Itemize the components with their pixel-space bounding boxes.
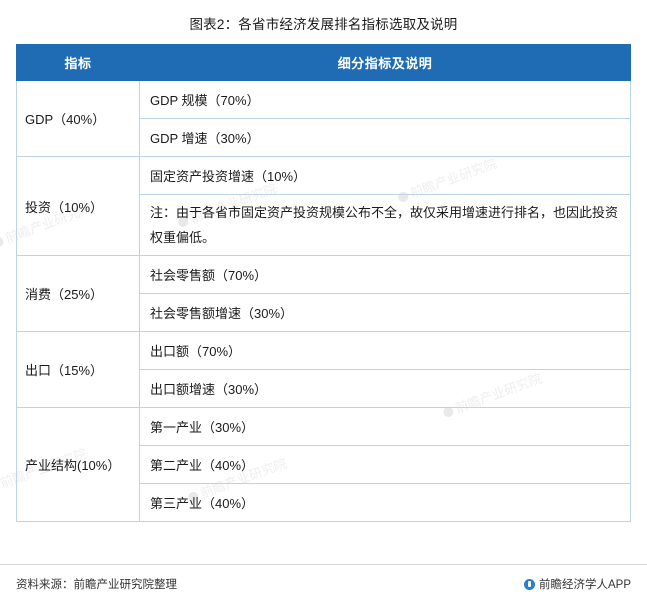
row-category-export: 出口（15%） — [17, 332, 140, 408]
row-category-gdp: GDP（40%） — [17, 81, 140, 157]
footer: 资料来源：前瞻产业研究院整理 前瞻经济学人APP — [0, 564, 647, 594]
watermark-logo-icon — [0, 236, 5, 249]
document-page: 图表2：各省市经济发展排名指标选取及说明 前瞻产业研究院 前瞻产业研究院 前瞻产… — [0, 0, 647, 594]
row-detail: 社会零售额（70%） — [140, 256, 631, 294]
row-category-consumption: 消费（25%） — [17, 256, 140, 332]
row-detail: 固定资产投资增速（10%） — [140, 157, 631, 195]
brand-logo-icon — [524, 579, 535, 590]
row-detail: GDP 增速（30%） — [140, 119, 631, 157]
table-row: GDP（40%） GDP 规模（70%） — [17, 81, 631, 119]
row-detail: 出口额增速（30%） — [140, 370, 631, 408]
table-body: GDP（40%） GDP 规模（70%） GDP 增速（30%） 投资（10%）… — [17, 81, 631, 522]
table-header: 指标 细分指标及说明 — [17, 45, 631, 81]
table-row: 消费（25%） 社会零售额（70%） — [17, 256, 631, 294]
table-row: 出口（15%） 出口额（70%） — [17, 332, 631, 370]
row-category-industrial-structure: 产业结构(10%） — [17, 408, 140, 522]
table-row: 产业结构(10%） 第一产业（30%） — [17, 408, 631, 446]
brand-label: 前瞻经济学人APP — [524, 576, 631, 592]
row-detail: GDP 规模（70%） — [140, 81, 631, 119]
table-row: 投资（10%） 固定资产投资增速（10%） — [17, 157, 631, 195]
table-header-row: 指标 细分指标及说明 — [17, 45, 631, 81]
column-header-indicator: 指标 — [17, 45, 140, 81]
row-detail: 出口额（70%） — [140, 332, 631, 370]
row-detail: 第二产业（40%） — [140, 446, 631, 484]
column-header-details: 细分指标及说明 — [140, 45, 631, 81]
row-detail-note: 注：由于各省市固定资产投资规模公布不全，故仅采用增速进行排名，也因此投资权重偏低… — [140, 195, 631, 256]
row-detail: 第一产业（30%） — [140, 408, 631, 446]
indicator-table: 指标 细分指标及说明 GDP（40%） GDP 规模（70%） GDP 增速（3… — [16, 44, 631, 522]
page-title: 图表2：各省市经济发展排名指标选取及说明 — [0, 0, 647, 44]
brand-text: 前瞻经济学人APP — [539, 576, 631, 592]
row-category-investment: 投资（10%） — [17, 157, 140, 256]
row-detail: 社会零售额增速（30%） — [140, 294, 631, 332]
row-detail: 第三产业（40%） — [140, 484, 631, 522]
source-text: 资料来源：前瞻产业研究院整理 — [16, 576, 177, 592]
